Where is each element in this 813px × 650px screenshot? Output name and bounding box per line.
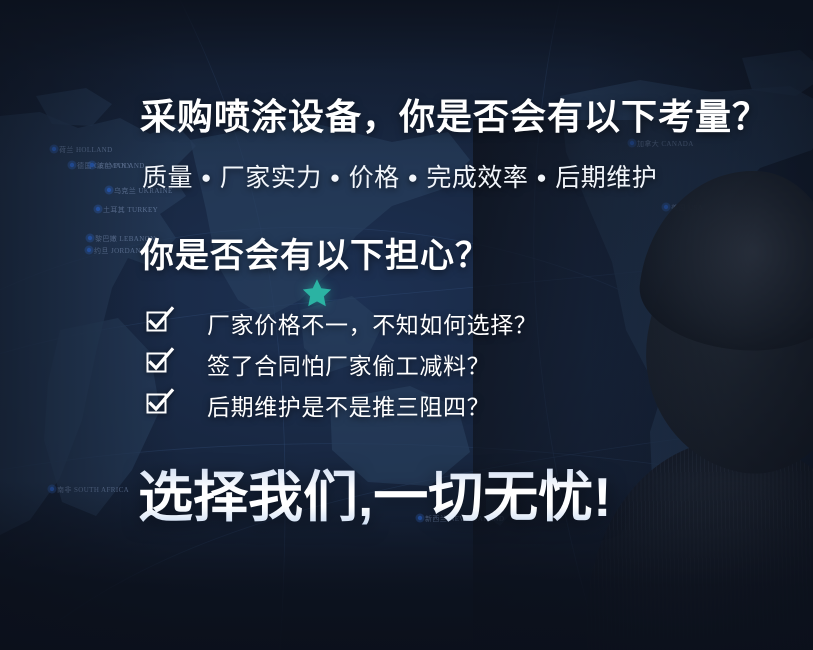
checklist-row: 签了合同怕厂家偷工减料？ [147,343,537,384]
checkbox-checked-icon [147,394,169,416]
feature-separator: ● [536,168,547,188]
feature-item: 价格 [349,164,400,192]
slogan-headline: 选择我们,一切无忧! [138,452,612,532]
concerns-checklist: 厂家价格不一，不知如何选择？签了合同怕厂家偷工减料？后期维护是不是推三阻四？ [147,302,537,425]
promo-banner: 荷兰 HOLLAND德国 GERMANY波兰 POLAND乌克兰 UKRAINE… [0,0,813,650]
checklist-row: 厂家价格不一，不知如何选择？ [147,302,537,343]
checklist-label: 后期维护是不是推三阻四？ [207,388,490,422]
feature-separator: ● [330,168,341,188]
feature-item: 后期维护 [555,164,657,192]
feature-separator: ● [201,168,212,188]
primary-headline: 采购喷涂设备，你是否会有以下考量？ [140,88,769,140]
secondary-headline: 你是否会有以下担心？ [140,228,490,277]
feature-item: 完成效率 [426,164,528,192]
banner-content: 采购喷涂设备，你是否会有以下考量？ 质量●厂家实力●价格●完成效率●后期维护 你… [0,0,813,650]
feature-item: 厂家实力 [220,164,322,192]
feature-list: 质量●厂家实力●价格●完成效率●后期维护 [142,158,657,194]
feature-item: 质量 [142,164,193,192]
checklist-label: 厂家价格不一，不知如何选择？ [207,306,537,340]
checklist-label: 签了合同怕厂家偷工减料？ [207,347,490,381]
checkbox-checked-icon [147,353,169,375]
feature-separator: ● [408,168,419,188]
checkbox-checked-icon [147,312,169,334]
checklist-row: 后期维护是不是推三阻四？ [147,384,537,425]
